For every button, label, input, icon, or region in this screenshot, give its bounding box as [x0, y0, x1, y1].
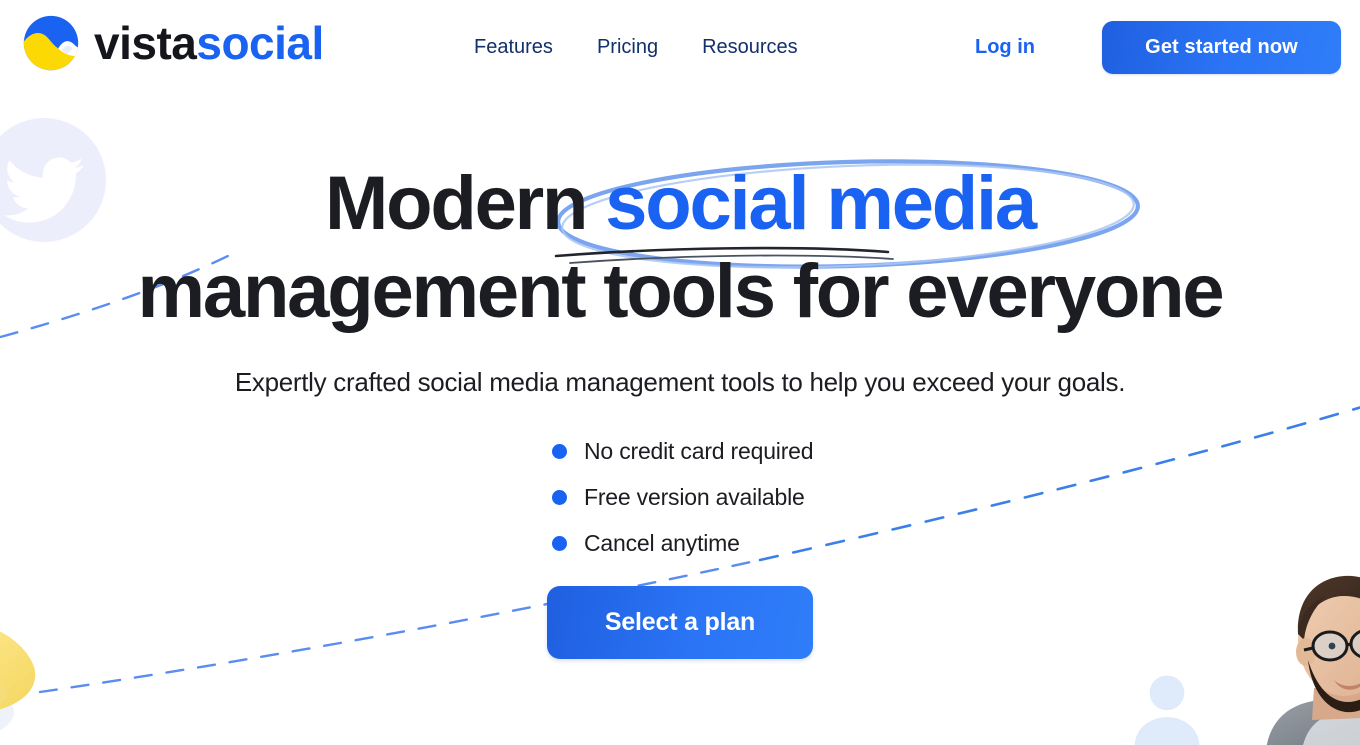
list-item: Cancel anytime — [552, 528, 740, 558]
login-link[interactable]: Log in — [975, 34, 1035, 60]
brand-word-vista: vista — [94, 17, 196, 69]
nav-link-resources[interactable]: Resources — [702, 33, 798, 61]
benefits-list: No credit card required Free version ava… — [0, 436, 1360, 558]
benefit-label: Free version available — [584, 482, 805, 512]
benefit-label: No credit card required — [584, 436, 813, 466]
headline-wrapper: Modern social media management tools for… — [0, 160, 1360, 336]
hero-section: Modern social media management tools for… — [0, 160, 1360, 659]
brand-word-social: social — [196, 17, 323, 69]
headline-prefix: Modern — [325, 161, 605, 246]
list-item: Free version available — [552, 482, 805, 512]
hero-subheadline: Expertly crafted social media management… — [0, 364, 1360, 400]
landing-page: vistasocial Features Pricing Resources L… — [0, 0, 1360, 745]
get-started-button[interactable]: Get started now — [1102, 21, 1341, 74]
list-item: No credit card required — [552, 436, 813, 466]
headline-line-1: Modern social media — [325, 161, 1035, 246]
brand-wordmark: vistasocial — [94, 20, 324, 66]
blue-dot-icon — [552, 536, 567, 551]
headline-accent: social media — [605, 161, 1035, 246]
blue-dot-icon — [552, 490, 567, 505]
headline-line-2: management tools for everyone — [138, 249, 1223, 334]
blue-dot-icon — [552, 444, 567, 459]
select-a-plan-button[interactable]: Select a plan — [547, 586, 813, 659]
site-header: vistasocial Features Pricing Resources L… — [0, 0, 1360, 95]
hero-cta-row: Select a plan — [0, 586, 1360, 659]
nav-link-pricing[interactable]: Pricing — [597, 33, 658, 61]
vistasocial-logo-icon — [22, 14, 80, 72]
brand-logo-link[interactable]: vistasocial — [22, 14, 324, 72]
benefit-label: Cancel anytime — [584, 528, 740, 558]
person-silhouette-icon — [1128, 672, 1206, 745]
page-title: Modern social media management tools for… — [0, 160, 1360, 336]
nav-link-features[interactable]: Features — [474, 33, 553, 61]
main-navigation: Features Pricing Resources — [474, 33, 798, 61]
